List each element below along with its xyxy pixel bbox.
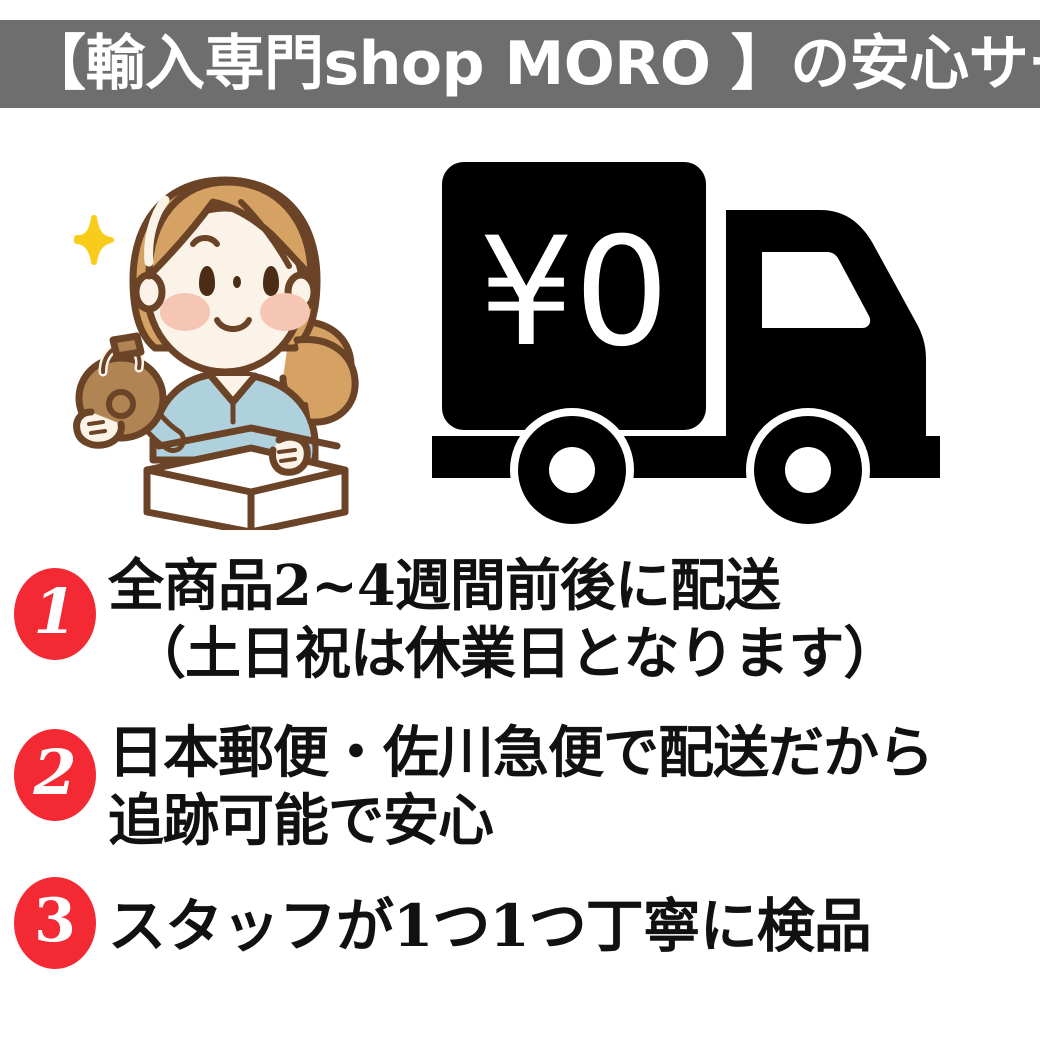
service-text-line: 日本郵便・佐川急便で配送だから	[108, 719, 1040, 787]
service-text-block: スタッフが1つ1つ丁寧に検品	[108, 877, 1040, 962]
service-text-line: 全商品2~4週間前後に配送	[108, 552, 1040, 620]
staff-illustration-svg	[45, 140, 395, 530]
service-banner-page: 【輸入専門shop MORO 】の安心サービス	[0, 0, 1040, 1040]
service-number-badge: 3	[14, 877, 96, 969]
staff-inspecting-package-illustration	[45, 140, 395, 530]
illustration-row: ¥0	[0, 140, 1040, 540]
service-list: 1 全商品2~4週間前後に配送 （土日祝は休業日となります） 2 日本郵便・佐川…	[0, 548, 1040, 979]
service-number-badge: 1	[14, 568, 96, 660]
truck-front-wheel	[746, 408, 870, 528]
right-cheek	[260, 293, 310, 331]
truck-price-label: ¥0	[479, 206, 670, 380]
sparkle-icon	[77, 218, 111, 262]
left-cheek	[160, 293, 210, 331]
service-text-line: スタッフが1つ1つ丁寧に検品	[108, 891, 1040, 962]
header-banner: 【輸入専門shop MORO 】の安心サービス	[0, 20, 1040, 108]
free-shipping-truck-illustration: ¥0	[420, 148, 1020, 528]
service-text-block: 日本郵便・佐川急便で配送だから 追跡可能で安心	[108, 719, 1040, 856]
page-title: 【輸入専門shop MORO 】の安心サービス	[26, 34, 1040, 94]
service-number-badge: 2	[14, 729, 96, 821]
service-text-line: 追跡可能で安心	[108, 787, 1040, 855]
truck-rear-wheel	[510, 408, 634, 528]
service-item: 1 全商品2~4週間前後に配送 （土日祝は休業日となります）	[0, 552, 1040, 689]
service-item: 3 スタッフが1つ1つ丁寧に検品	[0, 877, 1040, 969]
service-item: 2 日本郵便・佐川急便で配送だから 追跡可能で安心	[0, 719, 1040, 856]
service-text-line: （土日祝は休業日となります）	[108, 620, 1040, 688]
truck-svg: ¥0	[420, 148, 1020, 528]
service-text-block: 全商品2~4週間前後に配送 （土日祝は休業日となります）	[108, 552, 1040, 689]
right-hand	[273, 437, 308, 472]
